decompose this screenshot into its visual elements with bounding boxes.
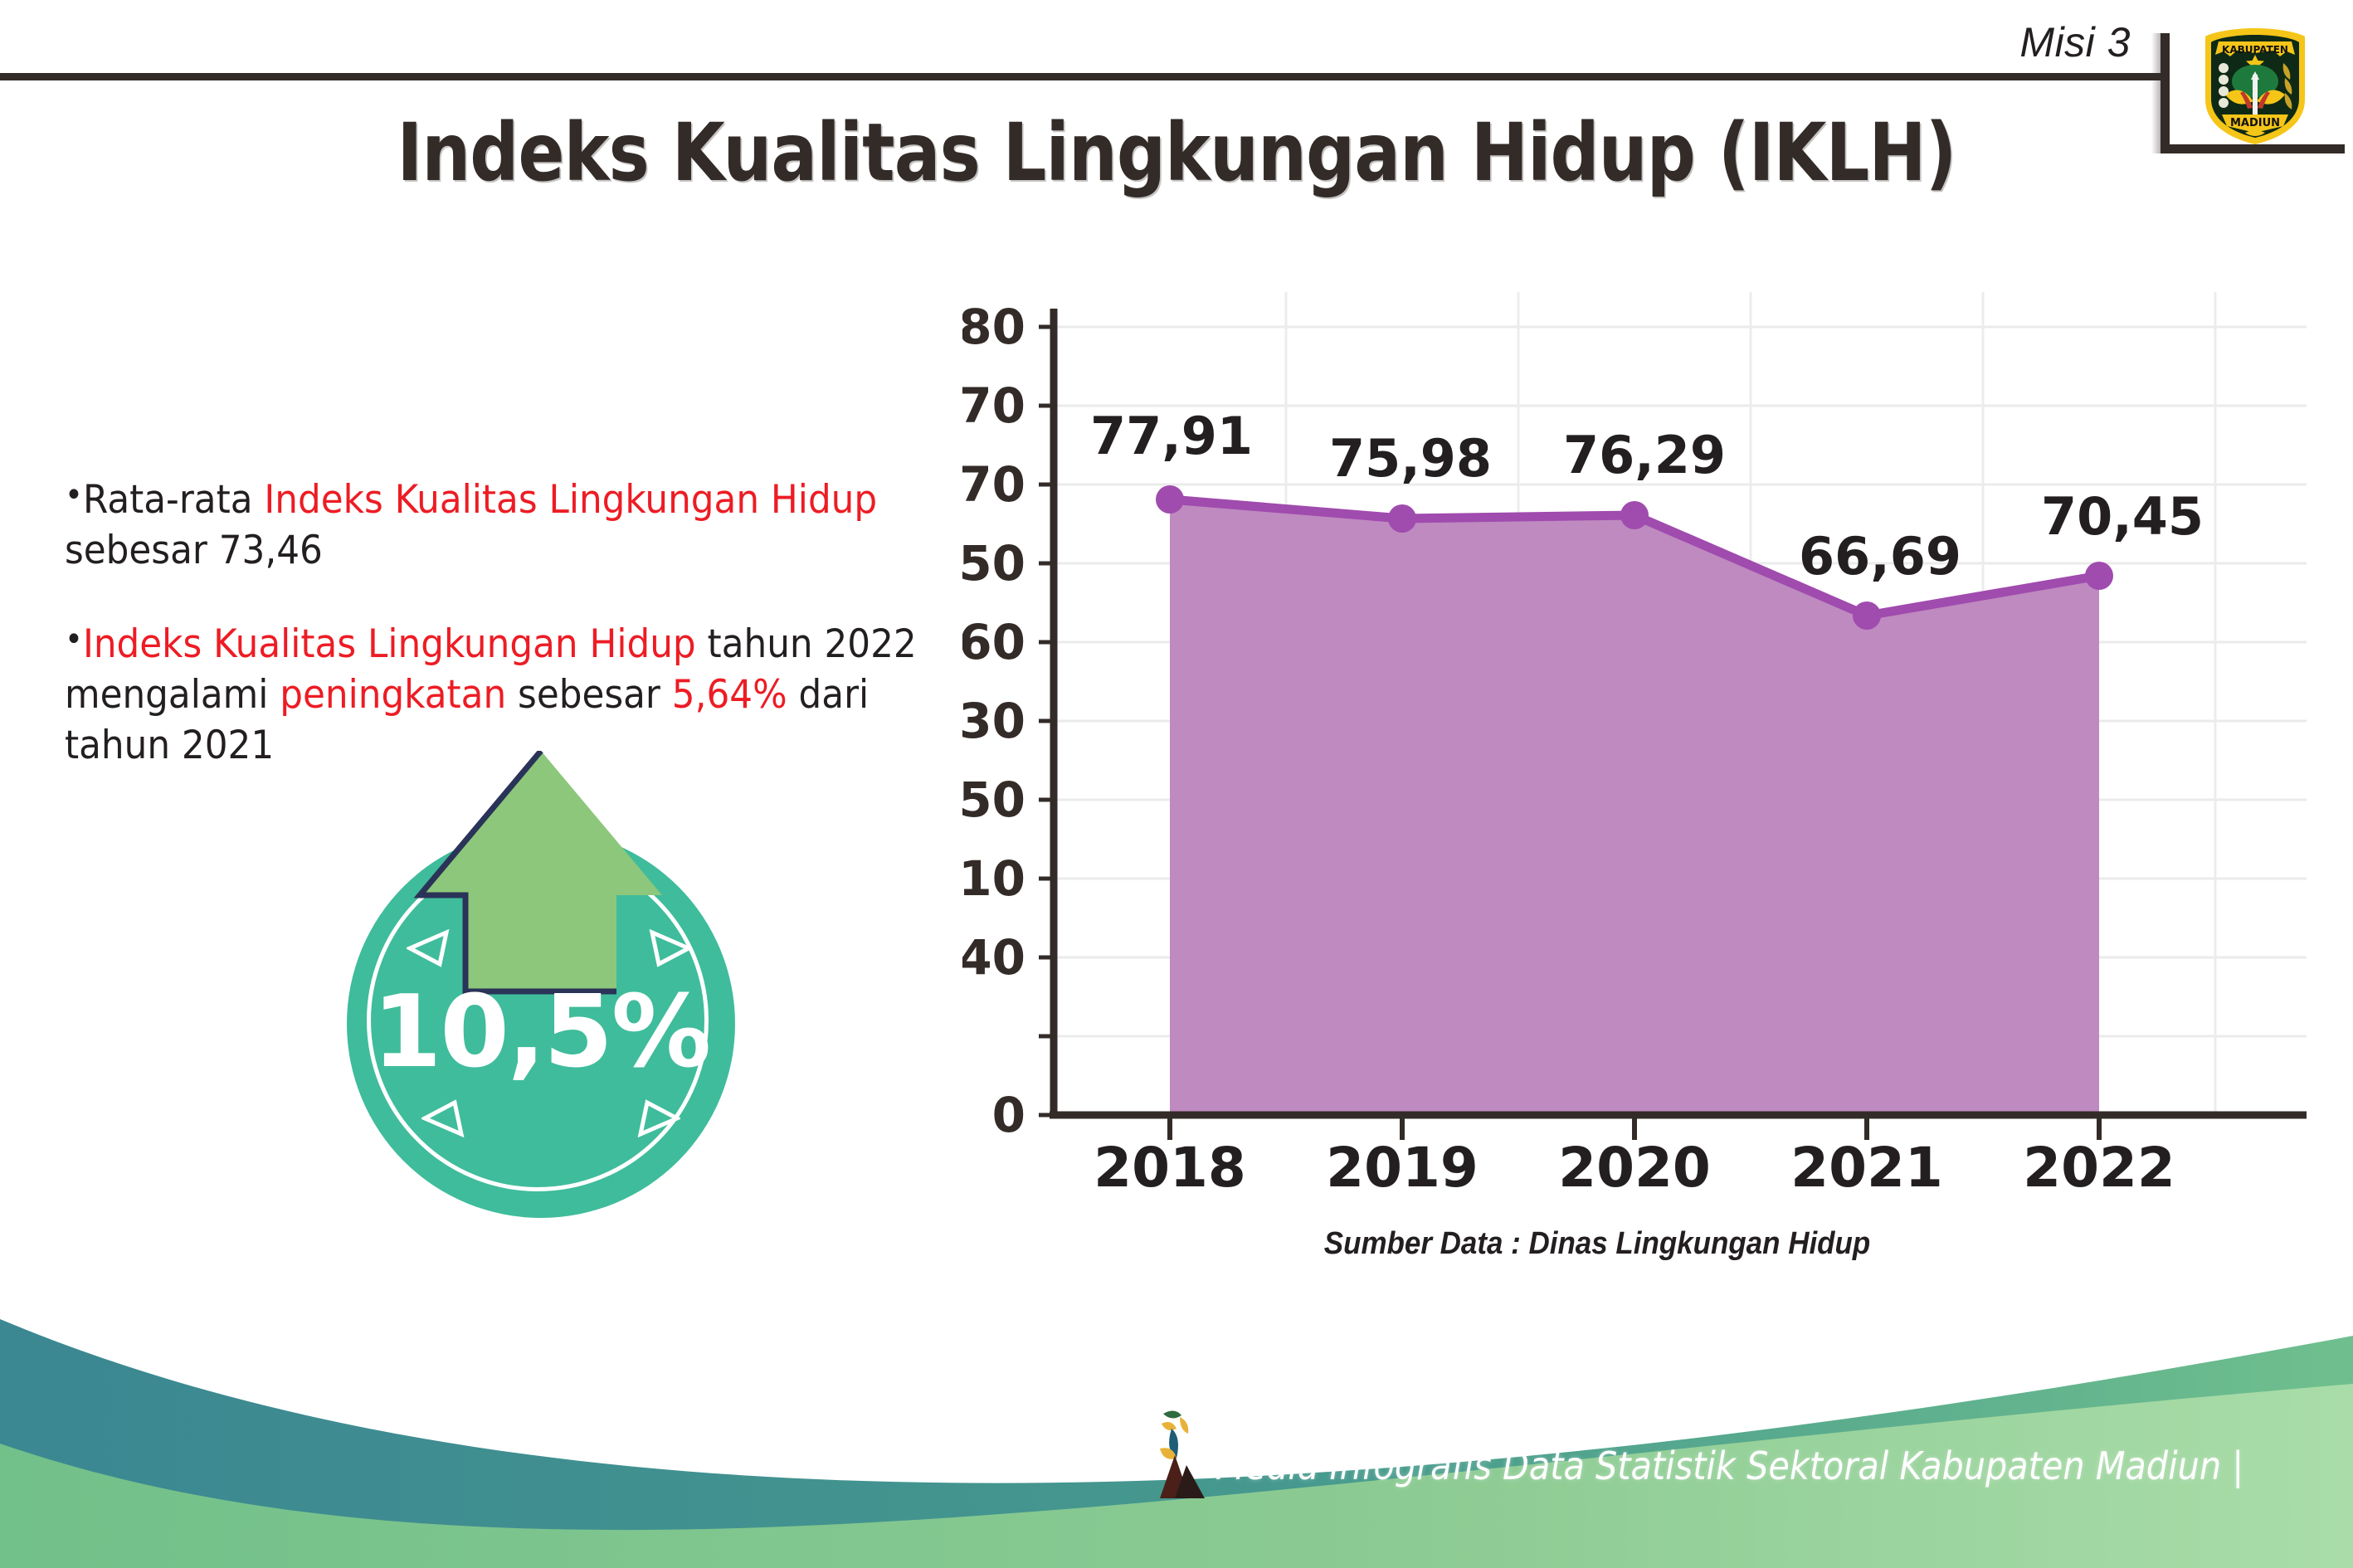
badge-triangle-bottom-right-icon (636, 1099, 680, 1137)
bullet-marker-icon: • (65, 621, 83, 659)
svg-text:MADIUN: MADIUN (2230, 117, 2280, 129)
increase-badge: 10,5% (330, 751, 770, 1215)
data-label: 66,69 (1799, 526, 1961, 587)
bullet-1-text-1: Rata-rata (83, 477, 264, 523)
x-tick-label: 2018 (1094, 1136, 1246, 1188)
footer: Media Infografis Data Statistik Sektoral… (0, 1286, 2353, 1568)
svg-text:KABUPATEN: KABUPATEN (2222, 44, 2288, 56)
chart-x-tick-labels: 2018 2019 2020 2021 2022 (1094, 1136, 2175, 1188)
page-title: Indeks Kualitas Lingkungan Hidup (IKLH) (165, 106, 2189, 199)
iklh-area-chart: 80 70 60 50 40 70 50 30 10 0 77,91 75,98… (962, 292, 2307, 1188)
bullet-1-text-2: sebesar 73,46 (65, 528, 323, 573)
badge-triangle-top-left-icon (407, 929, 451, 967)
y-tick-label: 50 (962, 535, 1025, 592)
y-tick-label: 70 (962, 456, 1025, 513)
data-label: 77,91 (1090, 406, 1253, 466)
bullet-marker-icon: • (65, 476, 83, 514)
y-tick-label: 30 (962, 693, 1025, 749)
x-tick-label: 2022 (2023, 1136, 2175, 1188)
statistics-figure-logo-icon (1147, 1405, 1218, 1508)
x-tick-label: 2020 (1558, 1136, 1711, 1188)
data-label: 75,98 (1329, 428, 1492, 489)
chart-source-note: Sumber Data : Dinas Lingkungan Hidup (1013, 1226, 2181, 1262)
header-divider-rule (0, 73, 2167, 80)
list-item: •Rata-rata Indeks Kualitas Lingkungan Hi… (65, 475, 918, 576)
bullet-2-text-2: sebesar (506, 672, 672, 718)
footer-caption: Media Infografis Data Statistik Sektoral… (1215, 1444, 2243, 1488)
x-tick-label: 2019 (1326, 1136, 1479, 1188)
data-label: 76,29 (1563, 425, 1726, 485)
list-item: •Indeks Kualitas Lingkungan Hidup tahun … (65, 619, 918, 771)
bullet-2-highlight-3: 5,64% (672, 672, 787, 718)
data-label: 70,45 (2041, 486, 2204, 547)
bullet-2-highlight-2: peningkatan (280, 672, 506, 718)
y-tick-label: 70 (962, 377, 1025, 434)
kabupaten-madiun-crest-icon: KABUPATEN MADIUN (2194, 23, 2316, 148)
bullet-2-highlight-1: Indeks Kualitas Lingkungan Hidup (83, 621, 696, 667)
y-tick-label: 80 (962, 299, 1025, 355)
y-tick-label: 50 (962, 772, 1025, 828)
bullet-1-highlight-1: Indeks Kualitas Lingkungan Hidup (264, 477, 877, 523)
y-tick-label: 60 (962, 614, 1025, 670)
chart-area-fill (1170, 499, 2099, 1115)
x-tick-label: 2021 (1790, 1136, 1943, 1188)
y-tick-label: 40 (962, 929, 1025, 986)
y-tick-label: 10 (962, 850, 1025, 907)
y-tick-label: 0 (992, 1087, 1025, 1143)
badge-triangle-bottom-left-icon (421, 1099, 466, 1137)
badge-triangle-top-right-icon (647, 929, 692, 967)
mission-label: Misi 3 (2019, 18, 2131, 66)
badge-value: 10,5% (347, 975, 735, 1090)
